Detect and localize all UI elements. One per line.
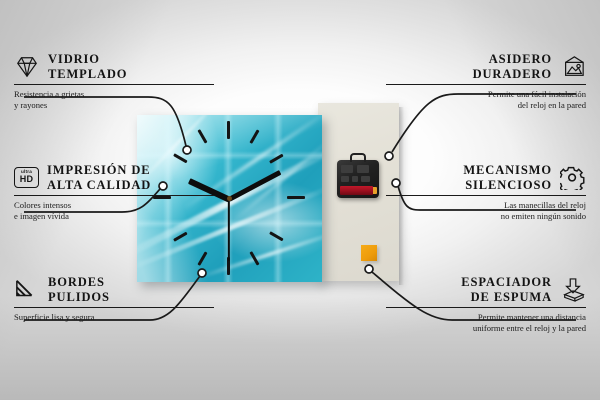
foam-spacer (361, 245, 377, 261)
feature-description: Permite mantener una distancia uniforme … (386, 312, 586, 333)
feature-header: ESPACIADOR DE ESPUMA (386, 275, 586, 304)
feature-title: BORDES PULIDOS (48, 275, 110, 304)
feature-header: MECANISMO SILENCIOSO (386, 163, 586, 192)
ultra-hd-icon: ultra HD (14, 167, 39, 188)
mechanism-slot (341, 165, 353, 173)
feature-description: Permite una fácil instalación del reloj … (386, 89, 586, 110)
ultra-hd-icon-main-label: HD (20, 175, 34, 185)
feature-mecanismo-silencioso: MECANISMO SILENCIOSO Las manecillas del … (386, 163, 586, 222)
feature-header: ASIDERO DURADERO (386, 52, 586, 81)
foam-spacer-icon (560, 278, 586, 302)
hour-marker (249, 129, 259, 143)
glass-seam (137, 151, 322, 160)
gear-icon (560, 166, 586, 190)
feature-vidrio-templado: VIDRIO TEMPLADO Resistencia a grietas y … (14, 52, 214, 111)
mechanism-hook (350, 153, 366, 162)
battery (340, 186, 373, 195)
feature-description: Resistencia a grietas y rayones (14, 89, 214, 110)
diamond-icon (14, 55, 40, 79)
feature-header: VIDRIO TEMPLADO (14, 52, 214, 81)
feature-header: ultra HD IMPRESIÓN DE ALTA CALIDAD (14, 163, 214, 192)
mechanism-slot (357, 165, 369, 173)
feature-title: VIDRIO TEMPLADO (48, 52, 127, 81)
second-hand (228, 199, 230, 261)
divider (386, 84, 586, 85)
feature-title: IMPRESIÓN DE ALTA CALIDAD (47, 163, 151, 192)
feature-title: ASIDERO DURADERO (473, 52, 552, 81)
feature-espaciador-de-espuma: ESPACIADOR DE ESPUMA Permite mantener un… (386, 275, 586, 334)
hour-marker (197, 251, 207, 265)
divider (386, 307, 586, 308)
feature-title: MECANISMO SILENCIOSO (463, 163, 552, 192)
infographic-canvas: VIDRIO TEMPLADO Resistencia a grietas y … (0, 0, 600, 400)
hour-marker (227, 121, 230, 139)
divider (14, 195, 214, 196)
picture-hanger-icon (560, 55, 586, 79)
feature-title: ESPACIADOR DE ESPUMA (461, 275, 552, 304)
clock-pivot (227, 196, 232, 201)
clock-mechanism (337, 160, 379, 198)
divider (14, 307, 214, 308)
hour-marker (197, 129, 207, 143)
feature-asidero-duradero: ASIDERO DURADERO Permite una fácil insta… (386, 52, 586, 111)
feature-impresion-alta-calidad: ultra HD IMPRESIÓN DE ALTA CALIDAD Color… (14, 163, 214, 222)
feature-description: Colores intensos e imagen vívida (14, 200, 214, 221)
feature-description: Superficie lisa y segura (14, 312, 214, 323)
feature-bordes-pulidos: BORDES PULIDOS Superficie lisa y segura (14, 275, 214, 323)
divider (386, 195, 586, 196)
mechanism-slot (341, 176, 349, 182)
hour-marker (287, 196, 305, 199)
feature-description: Las manecillas del reloj no emiten ningú… (386, 200, 586, 221)
mechanism-slot (361, 176, 370, 182)
polished-edges-icon (14, 278, 40, 302)
mechanism-slot (352, 176, 358, 182)
glass-seam (273, 115, 283, 282)
feature-header: BORDES PULIDOS (14, 275, 214, 304)
divider (14, 84, 214, 85)
